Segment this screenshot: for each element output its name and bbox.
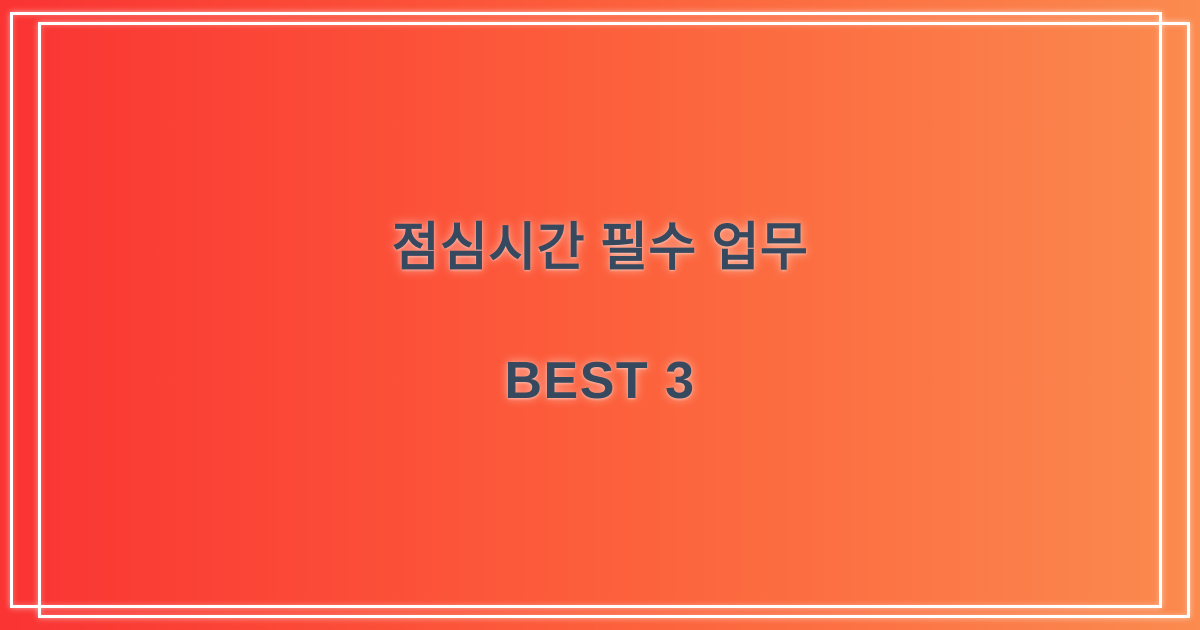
banner-title-line-1: 점심시간 필수 업무 <box>392 215 809 282</box>
promo-banner: 점심시간 필수 업무 BEST 3 <box>0 0 1200 630</box>
banner-title-line-2: BEST 3 <box>392 348 809 415</box>
headline-container: 점심시간 필수 업무 BEST 3 <box>0 0 1200 630</box>
banner-title: 점심시간 필수 업무 BEST 3 <box>392 149 809 482</box>
